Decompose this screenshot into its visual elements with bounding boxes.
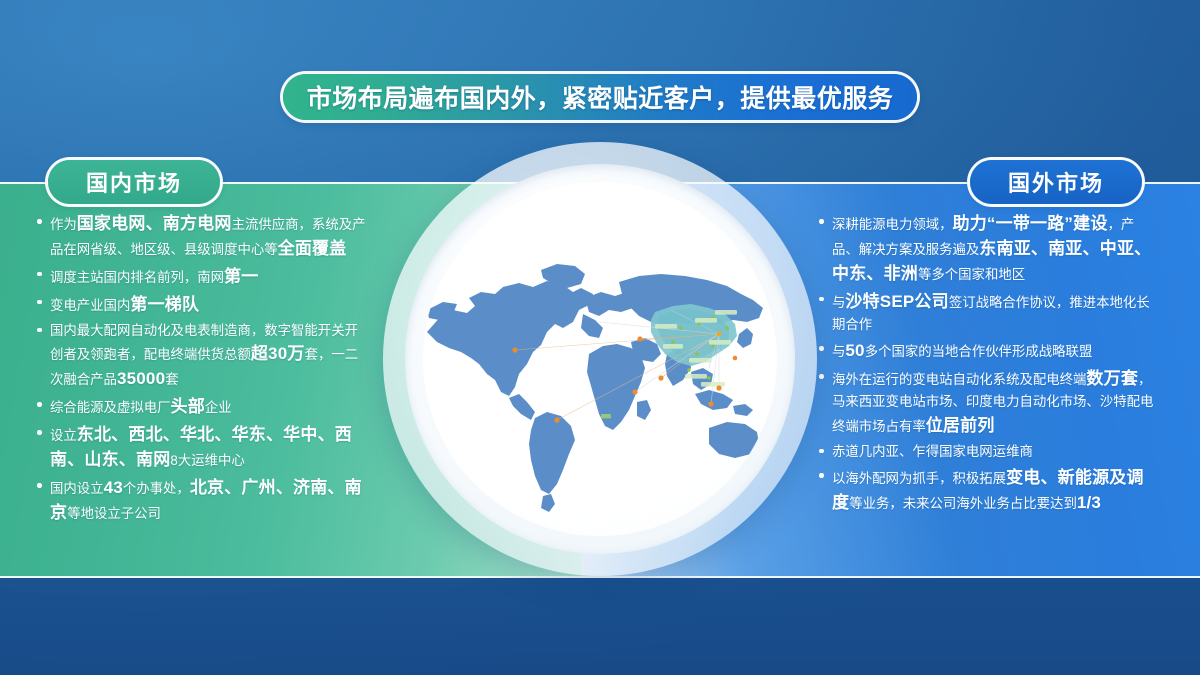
overseas-bullet-text: 沙特SEP公司	[845, 292, 948, 311]
domestic-bullet-text: 变电产业国内	[50, 298, 130, 313]
domestic-bullet: 综合能源及虚拟电厂头部企业	[36, 395, 366, 420]
domestic-bullet-text: 套	[165, 372, 178, 387]
overseas-bullet: 与50多个国家的当地合作伙伴形成战略联盟	[818, 339, 1158, 364]
domestic-bullet-text: 头部	[171, 397, 205, 416]
domestic-bullet: 国内设立43个办事处，北京、广州、济南、南京等地设立子公司	[36, 476, 366, 526]
overseas-bullet-text: 海外在运行的变电站自动化系统及配电终端	[832, 372, 1086, 387]
overseas-bullet: 与沙特SEP公司签订战略合作协议，推进本地化长期合作	[818, 290, 1158, 336]
overseas-bullet-text: 与	[832, 295, 845, 310]
domestic-bullet-text: 等地设立子公司	[67, 506, 161, 521]
overseas-market-list: 深耕能源电力领域，助力“一带一路”建设，产品、解决方案及服务遍及东南亚、南亚、中…	[818, 212, 1158, 519]
domestic-bullet-text: 国家电网、南方电网	[77, 214, 232, 233]
domestic-market-list: 作为国家电网、南方电网主流供应商，系统及产品在网省级、地区级、县级调度中心等全面…	[36, 212, 366, 529]
domestic-bullet-text: 第一梯队	[130, 295, 199, 314]
domestic-bullet-text: 超30万	[251, 344, 305, 363]
domestic-bullet-text: 企业	[205, 400, 232, 415]
overseas-bullet-text: 等业务，未来公司海外业务占比要达到	[849, 496, 1077, 511]
domestic-bullet: 调度主站国内排名前列，南网第一	[36, 265, 366, 290]
overseas-market-badge-label: 国外市场	[1008, 166, 1104, 198]
domestic-market-badge-label: 国内市场	[86, 166, 182, 198]
domestic-bullet-text: 国内设立	[50, 481, 104, 496]
overseas-market-badge: 国外市场	[970, 160, 1142, 204]
overseas-bullet-text: 助力“一带一路”建设	[953, 214, 1108, 233]
overseas-bullet-text: 与	[832, 344, 845, 359]
overseas-bullet-text: 数万套	[1086, 369, 1138, 388]
domestic-bullet-text: 全面覆盖	[278, 239, 347, 258]
overseas-bullet-text: 深耕能源电力领域，	[832, 217, 953, 232]
domestic-bullet-text: 设立	[50, 428, 77, 443]
domestic-bullet-text: 综合能源及虚拟电厂	[50, 400, 171, 415]
domestic-bullet-text: 8大运维中心	[170, 453, 244, 468]
domestic-bullet-text: 35000	[117, 369, 165, 388]
overseas-bullet: 赤道几内亚、乍得国家电网运维商	[818, 442, 1158, 463]
domestic-bullet-text: 43	[104, 478, 123, 497]
domestic-bullet-text: 作为	[50, 217, 77, 232]
overseas-bullet-text: 多个国家的当地合作伙伴形成战略联盟	[865, 344, 1093, 359]
overseas-bullet-text: 等多个国家和地区	[918, 267, 1025, 282]
domestic-bullet: 作为国家电网、南方电网主流供应商，系统及产品在网省级、地区级、县级调度中心等全面…	[36, 212, 366, 262]
domestic-bullet-text: 第一	[224, 267, 258, 286]
overseas-bullet-text: 1/3	[1077, 493, 1101, 512]
page-title: 市场布局遍布国内外，紧密贴近客户，提供最优服务	[307, 79, 894, 115]
slide-title-pill: 市场布局遍布国内外，紧密贴近客户，提供最优服务	[283, 74, 917, 120]
domestic-bullet-text: 个办事处，	[123, 481, 190, 496]
overseas-bullet-text: 以海外配网为抓手，积极拓展	[832, 471, 1006, 486]
domestic-bullet: 变电产业国内第一梯队	[36, 293, 366, 318]
overseas-bullet-text: 赤道几内亚、乍得国家电网运维商	[832, 444, 1033, 459]
overseas-bullet: 以海外配网为抓手，积极拓展变电、新能源及调度等业务，未来公司海外业务占比要达到1…	[818, 466, 1158, 516]
overseas-bullet-text: 50	[845, 341, 864, 360]
domestic-market-badge: 国内市场	[48, 160, 220, 204]
overseas-bullet: 深耕能源电力领域，助力“一带一路”建设，产品、解决方案及服务遍及东南亚、南亚、中…	[818, 212, 1158, 287]
overseas-bullet-text: 位居前列	[926, 416, 995, 435]
slide-root: 市场布局遍布国内外，紧密贴近客户，提供最优服务 国内市场 作为国家电网、南方电网…	[0, 0, 1200, 675]
overseas-bullet: 海外在运行的变电站自动化系统及配电终端数万套，马来西亚变电站市场、印度电力自动化…	[818, 367, 1158, 438]
domestic-bullet-text: 调度主站国内排名前列，南网	[50, 270, 224, 285]
domestic-bullet: 设立东北、西北、华北、华东、华中、西南、山东、南网8大运维中心	[36, 423, 366, 473]
domestic-bullet: 国内最大配网自动化及电表制造商，数字智能开关开创者及领跑者，配电终端供货总额超3…	[36, 321, 366, 392]
